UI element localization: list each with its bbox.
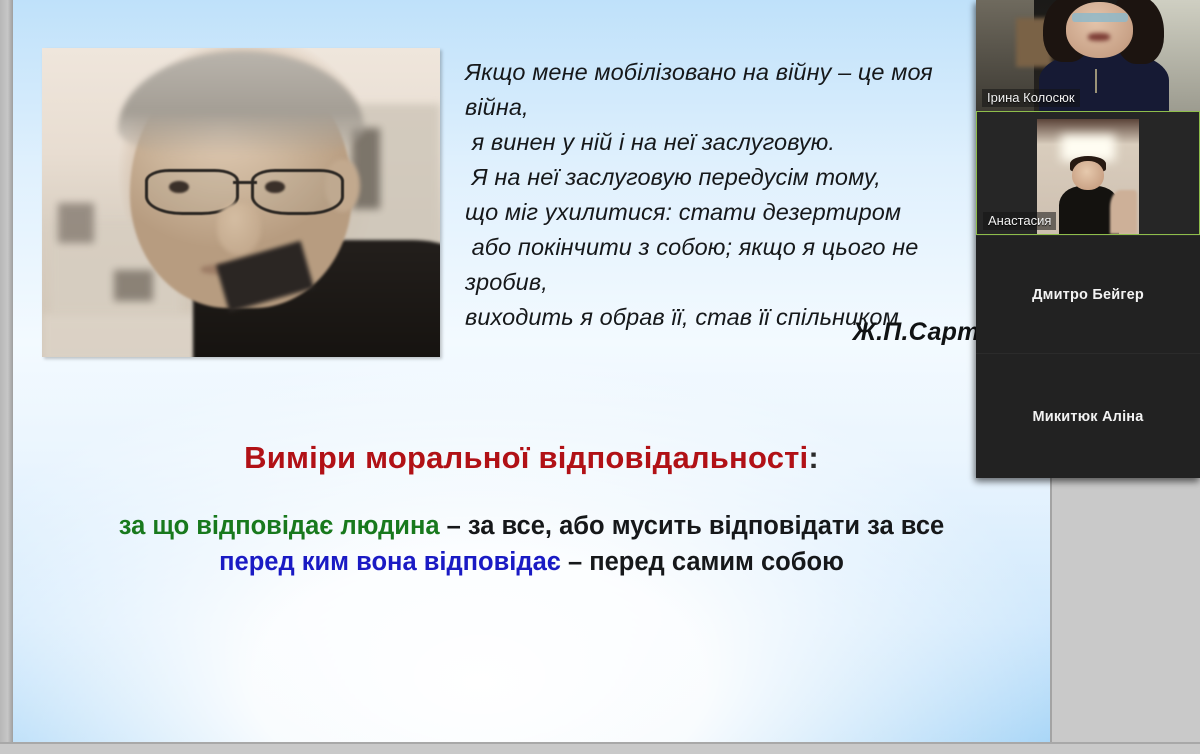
video-participants-panel[interactable]: Ірина Колосюк Анастасия Дмитро Бейгер (976, 0, 1200, 478)
portrait-photo-sartre (42, 48, 440, 357)
bottom-gray-rail (0, 742, 1200, 754)
portrait-eye-right (265, 181, 285, 193)
participant-name-label: Ірина Колосюк (982, 89, 1080, 107)
participant-name-label: Анастасия (983, 212, 1056, 230)
body-line-1-rest: – за все, або мусить відповідати за все (440, 512, 945, 540)
quote-attribution: Ж.П.Сартр (465, 318, 995, 347)
slide-body: за що відповідає людина – за все, або му… (13, 508, 1050, 580)
body-line-2-rest: – перед самим собою (561, 548, 844, 576)
photo-bg-block (58, 203, 94, 243)
person-face (1066, 2, 1133, 58)
video-tile-participant-3[interactable]: Дмитро Бейгер (976, 235, 1200, 354)
body-line-2: перед ким вона відповідає – перед самим … (13, 544, 1050, 580)
person-arm (1110, 190, 1137, 234)
body-line-1-keyword: за що відповідає людина (119, 512, 440, 540)
desktop-background: Якщо мене мобілізовано на війну – це моя… (0, 0, 1200, 752)
left-gray-rail (0, 0, 13, 742)
person-necklace (1095, 69, 1097, 93)
body-line-1: за що відповідає людина – за все, або му… (13, 508, 1050, 544)
person-face (1072, 161, 1105, 191)
video-tile-participant-4[interactable]: Микитюк Аліна (976, 353, 1200, 478)
quote-text: Якщо мене мобілізовано на війну – це моя… (465, 55, 995, 335)
video-tile-participant-2[interactable]: Анастасия (976, 111, 1200, 235)
portrait-hair (118, 51, 365, 156)
slide-headline: Виміри моральної відповідальності: (13, 440, 1050, 476)
headline-colon: : (808, 440, 819, 475)
portrait-nose (217, 203, 261, 256)
photo-bg-block (114, 270, 154, 301)
participant-name-label: Микитюк Аліна (976, 409, 1200, 425)
glasses-bridge (233, 181, 257, 184)
participant-name-label: Дмитро Бейгер (976, 287, 1200, 303)
person-mouth (1088, 33, 1110, 41)
glasses-lens-right (251, 169, 345, 215)
body-line-2-keyword: перед ким вона відповідає (219, 548, 561, 576)
person-glasses-icon (1072, 13, 1128, 22)
photo-canvas (42, 48, 440, 357)
headline-main-text: Виміри моральної відповідальності (244, 440, 808, 475)
presentation-slide[interactable]: Якщо мене мобілізовано на війну – це моя… (13, 0, 1052, 742)
video-tile-participant-1[interactable]: Ірина Колосюк (976, 0, 1200, 111)
